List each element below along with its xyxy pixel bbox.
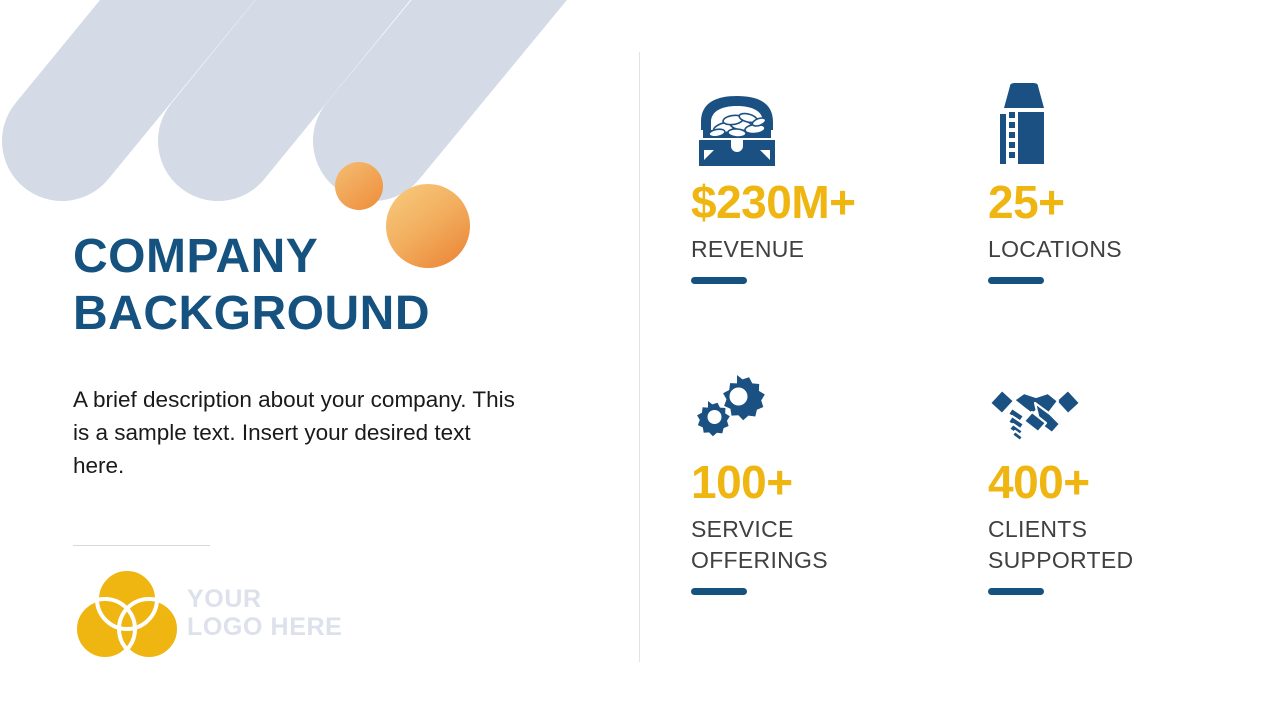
vertical-divider <box>639 52 640 662</box>
stat-icon-wrap <box>988 362 1251 448</box>
stat-underline-bar <box>691 277 747 284</box>
stat-label-line-2: SUPPORTED <box>988 545 1251 576</box>
stat-label-line-2: OFFERINGS <box>691 545 988 576</box>
stat-underline-bar <box>988 277 1044 284</box>
three-overlapping-circles-logo-icon <box>73 565 181 661</box>
treasure-chest-icon <box>691 92 783 168</box>
stat-underline-bar <box>691 588 747 595</box>
stat-service-offerings[interactable]: 100+ SERVICE OFFERINGS <box>691 362 988 642</box>
left-column: COMPANY BACKGROUND A brief description a… <box>73 0 603 720</box>
handshake-icon <box>988 386 1082 448</box>
stat-label-line-1: SERVICE <box>691 514 988 545</box>
stat-value: 25+ <box>988 176 1251 228</box>
stat-label: CLIENTS SUPPORTED <box>988 514 1251 576</box>
stat-underline-bar <box>988 588 1044 595</box>
logo-placeholder-text: YOUR LOGO HERE <box>187 585 342 641</box>
page-title-line-2: BACKGROUND <box>73 285 593 342</box>
stat-value: $230M+ <box>691 176 988 228</box>
page-title: COMPANY BACKGROUND <box>73 228 593 342</box>
stats-grid: $230M+ REVENUE <box>691 82 1251 642</box>
stat-value: 100+ <box>691 456 988 508</box>
stat-label-line-1: LOCATIONS <box>988 234 1251 265</box>
stat-label: LOCATIONS <box>988 234 1251 265</box>
stat-revenue[interactable]: $230M+ REVENUE <box>691 82 988 362</box>
stat-label-line-1: CLIENTS <box>988 514 1251 545</box>
slide-canvas: COMPANY BACKGROUND A brief description a… <box>0 0 1280 720</box>
logo-text-line-2: LOGO HERE <box>187 613 342 641</box>
stat-icon-wrap <box>988 82 1251 168</box>
logo-placeholder[interactable]: YOUR LOGO HERE <box>73 565 342 661</box>
stat-label-line-1: REVENUE <box>691 234 988 265</box>
stat-value: 400+ <box>988 456 1251 508</box>
page-title-line-1: COMPANY <box>73 228 593 285</box>
stat-icon-wrap <box>691 362 988 448</box>
logo-text-line-1: YOUR <box>187 585 342 613</box>
stat-label: SERVICE OFFERINGS <box>691 514 988 576</box>
description-text: A brief description about your company. … <box>73 383 525 482</box>
logo-divider-rule <box>73 545 210 546</box>
office-tower-icon <box>988 82 1060 168</box>
gears-icon <box>691 374 771 448</box>
stat-locations[interactable]: 25+ LOCATIONS <box>988 82 1251 362</box>
stat-icon-wrap <box>691 82 988 168</box>
stat-clients-supported[interactable]: 400+ CLIENTS SUPPORTED <box>988 362 1251 642</box>
stat-label: REVENUE <box>691 234 988 265</box>
